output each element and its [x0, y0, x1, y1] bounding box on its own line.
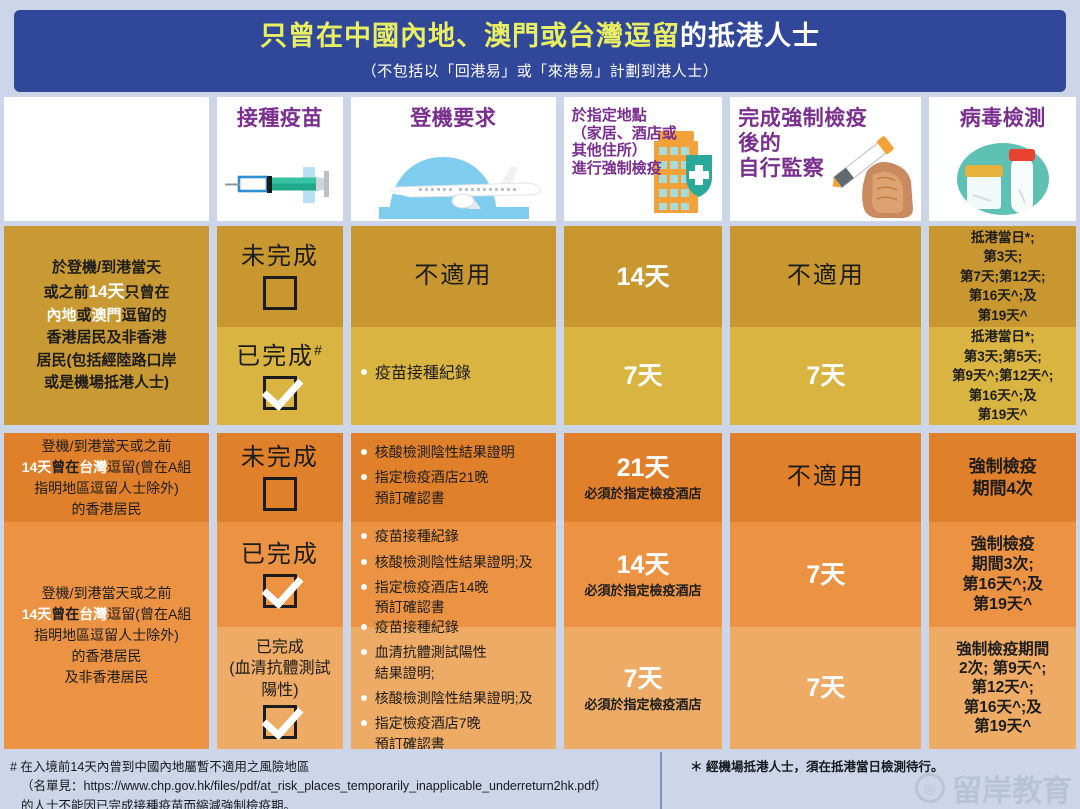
- weibo-icon: ◎: [915, 773, 945, 803]
- boarding-bullet: 指定檢疫酒店21晚 預訂確認書: [361, 467, 515, 508]
- boarding-column-orange: 核酸檢測陰性結果證明 指定檢疫酒店21晚 預訂確認書 疫苗接種紀錄 核酸檢測陰性…: [351, 433, 556, 749]
- cat-line-3: 指明地區逗留人士除外): [22, 625, 192, 646]
- selfmonitor-cell-7a: 7天: [730, 522, 921, 627]
- footer-line-3: 的人士不能因已完成接種疫苗而縮減強制檢疫期。: [10, 797, 660, 809]
- quarantine-note: 必須於指定檢疫酒店: [585, 694, 702, 713]
- footer-notes: # 在入境前14天內曾到中國內地屬暫不適用之風險地區 （名單見：https://…: [0, 752, 1080, 809]
- selfmonitor-line-1: 完成強制檢疫: [738, 107, 867, 132]
- quarantine-cell-14: 14天 必須於指定檢疫酒店: [564, 522, 722, 627]
- selfmonitor-value: 7天: [806, 673, 845, 703]
- boarding-cell-row3: 疫苗接種紀錄 血清抗體測試陽性 結果證明; 核酸檢測陰性結果證明;及 指定檢疫酒…: [351, 627, 556, 749]
- testing-column-gold: 抵港當日*; 第3天; 第7天;第12天; 第16天^;及 第19天^ 抵港當日…: [929, 226, 1076, 425]
- boarding-bullet: 核酸檢測陰性結果證明;及: [361, 688, 533, 708]
- checkbox-checked: [263, 376, 297, 410]
- vaccination-status-label: 已完成#: [236, 342, 324, 372]
- header-label-selfmonitor: 完成強制檢疫 後的 自行監察: [738, 107, 867, 181]
- page-title: 只曾在中國內地、澳門或台灣逗留的抵港人士: [260, 21, 820, 52]
- testing-line: 強制檢疫: [969, 456, 1037, 477]
- checkbox-unchecked: [263, 477, 297, 511]
- testing-line: 抵港當日*;: [960, 228, 1046, 248]
- testing-schedule: 強制檢疫 期間3次; 第16天^;及 第19天^: [962, 535, 1042, 615]
- vaccination-cell-complete: 已完成#: [217, 327, 343, 425]
- testing-line: 第19天^: [956, 717, 1049, 736]
- boarding-bullet: 核酸檢測陰性結果證明: [361, 442, 515, 462]
- checkbox-checked: [263, 705, 297, 739]
- testing-schedule: 強制檢疫 期間4次: [969, 456, 1037, 499]
- quarantine-cell-7: 7天: [564, 327, 722, 425]
- header-label-vaccination: 接種疫苗: [237, 107, 323, 132]
- boarding-cell-row1: 核酸檢測陰性結果證明 指定檢疫酒店21晚 預訂確認書: [351, 433, 556, 522]
- checkbox-checked: [263, 574, 297, 608]
- testing-line: 第9天^;第12天^;: [952, 366, 1053, 386]
- testing-line: 第12天^;: [956, 678, 1049, 697]
- boarding-value: 不適用: [414, 262, 492, 291]
- selfmonitor-value: 7天: [806, 361, 845, 391]
- testing-line: 第19天^: [962, 595, 1042, 615]
- cat-line-5: 居民(包括經陸路口岸: [37, 350, 177, 373]
- testing-line: 2次; 第9天^;: [956, 659, 1049, 678]
- boarding-bullet: 核酸檢測陰性結果證明;及: [361, 552, 533, 572]
- cat-line-1: 登機/到港當天或之前: [22, 436, 192, 457]
- cat-line-1: 於登機/到港當天: [37, 257, 177, 280]
- boarding-bullet: 疫苗接種紀錄: [361, 617, 533, 637]
- vaccination-column-orange: 未完成 已完成 已完成 (血清抗體測試 陽性): [217, 433, 343, 749]
- quarantine-value: 7天: [624, 361, 663, 391]
- footer-note-hash: # 在入境前14天內曾到中國內地屬暫不適用之風險地區 （名單見：https://…: [0, 752, 660, 809]
- cat-line-2: 14天曾在台灣逗留(曾在A組: [22, 604, 192, 625]
- testing-cell-row1: 強制檢疫 期間4次: [929, 433, 1076, 522]
- selfmonitor-cell-7b: 7天: [730, 627, 921, 749]
- cat-line-3: 內地或澳門逗留的: [37, 305, 177, 328]
- group-divider: [0, 425, 1080, 433]
- boarding-bullet-list: 疫苗接種紀錄: [361, 362, 471, 390]
- boarding-cell-records: 疫苗接種紀錄: [351, 327, 556, 425]
- title-highlight: 只曾在中國內地、澳門或台灣逗留: [260, 21, 680, 51]
- quarantine-line-4: 進行強制檢疫: [572, 160, 677, 178]
- header-cell-empty: [4, 97, 209, 221]
- checkbox-unchecked: [263, 276, 297, 310]
- watermark: ◎ 留岸教育: [915, 766, 1072, 809]
- cat-line-5: 及非香港居民: [22, 667, 192, 688]
- vaccination-label-line-3: 陽性): [229, 680, 330, 702]
- testing-line: 期間3次;: [962, 555, 1042, 575]
- category-column-taiwan: 登機/到港當天或之前 14天曾在台灣逗留(曾在A組 指明地區逗留人士除外) 的香…: [4, 433, 209, 749]
- selfmonitor-value: 不適用: [787, 262, 865, 291]
- testing-cell-row2: 強制檢疫 期間3次; 第16天^;及 第19天^: [929, 522, 1076, 627]
- quarantine-column-orange: 21天 必須於指定檢疫酒店 14天 必須於指定檢疫酒店 7天 必須於指定檢疫酒店: [564, 433, 722, 749]
- boarding-bullet: 血清抗體測試陽性 結果證明;: [361, 642, 533, 683]
- vaccination-status-label: 已完成 (血清抗體測試 陽性): [229, 637, 330, 702]
- quarantine-line-3: 其他住所）: [572, 142, 677, 160]
- boarding-bullet-list: 核酸檢測陰性結果證明 指定檢疫酒店21晚 預訂確認書: [361, 442, 515, 513]
- quarantine-note: 必須於指定檢疫酒店: [585, 483, 702, 502]
- testing-schedule: 強制檢疫期間 2次; 第9天^; 第12天^; 第16天^;及 第19天^: [956, 640, 1049, 737]
- cat-line-3: 指明地區逗留人士除外): [22, 478, 192, 499]
- header-cell-boarding: 登機要求: [351, 97, 556, 221]
- testing-line: 第16天^;及: [960, 286, 1046, 306]
- quarantine-value: 14天: [617, 550, 670, 580]
- header-cell-vaccination: 接種疫苗: [217, 97, 343, 221]
- infographic-page: 只曾在中國內地、澳門或台灣逗留的抵港人士 （不包括以「回港易」或「來港易」計劃到…: [0, 0, 1080, 809]
- specimen-tubes-icon: [945, 133, 1061, 221]
- header-cell-testing: 病毒檢測: [929, 97, 1076, 221]
- selfmonitor-value: 7天: [806, 560, 845, 590]
- testing-line: 第3天;第5天;: [952, 347, 1053, 367]
- testing-line: 第16天^;及: [962, 575, 1042, 595]
- testing-line: 第19天^: [960, 306, 1046, 326]
- vaccination-cell-incomplete: 未完成: [217, 226, 343, 327]
- category-cell-mainland-macau: 於登機/到港當天 或之前14天只曾在 內地或澳門逗留的 香港居民及非香港 居民(…: [4, 226, 209, 425]
- footer-line-2: （名單見：https://www.chp.gov.hk/files/pdf/at…: [10, 777, 660, 796]
- vaccination-cell-complete-serology: 已完成 (血清抗體測試 陽性): [217, 627, 343, 749]
- testing-schedule: 抵港當日*; 第3天;第5天; 第9天^;第12天^; 第16天^;及 第19天…: [952, 327, 1053, 425]
- boarding-bullet: 指定檢疫酒店14晚 預訂確認書: [361, 577, 533, 618]
- boarding-column-gold: 不適用 疫苗接種紀錄: [351, 226, 556, 425]
- title-rest: 的抵港人士: [680, 21, 820, 51]
- boarding-cell-row2: 疫苗接種紀錄 核酸檢測陰性結果證明;及 指定檢疫酒店14晚 預訂確認書: [351, 522, 556, 627]
- boarding-bullet: 指定檢疫酒店7晚 預訂確認書: [361, 713, 533, 749]
- requirements-table: 接種疫苗 登機要求: [0, 97, 1080, 749]
- quarantine-cell-7: 7天 必須於指定檢疫酒店: [564, 627, 722, 749]
- quarantine-value: 14天: [617, 262, 670, 292]
- testing-line: 第16天^;及: [956, 698, 1049, 717]
- quarantine-cell-21: 21天 必須於指定檢疫酒店: [564, 433, 722, 522]
- selfmonitor-column-orange: 不適用 7天 7天: [730, 433, 921, 749]
- selfmonitor-line-3: 自行監察: [738, 157, 867, 182]
- vaccination-status-label: 未完成: [241, 243, 319, 272]
- header-label-testing: 病毒檢測: [960, 107, 1046, 132]
- testing-line: 強制檢疫: [962, 535, 1042, 555]
- vaccination-cell-complete: 已完成: [217, 522, 343, 627]
- testing-line: 抵港當日*;: [952, 327, 1053, 347]
- quarantine-cell-14: 14天: [564, 226, 722, 327]
- testing-line: 第16天^;及: [952, 386, 1053, 406]
- boarding-cell-na: 不適用: [351, 226, 556, 327]
- header-cell-quarantine: 於指定地點 （家居、酒店或 其他住所） 進行強制檢疫: [564, 97, 722, 221]
- title-banner: 只曾在中國內地、澳門或台灣逗留的抵港人士 （不包括以「回港易」或「來港易」計劃到…: [14, 10, 1066, 92]
- boarding-bullet-list: 疫苗接種紀錄 血清抗體測試陽性 結果證明; 核酸檢測陰性結果證明;及 指定檢疫酒…: [361, 617, 533, 749]
- boarding-bullet: 疫苗接種紀錄: [361, 362, 471, 385]
- watermark-text: 留岸教育: [952, 766, 1072, 809]
- cat-line-1: 登機/到港當天或之前: [22, 583, 192, 604]
- vaccination-status-label: 已完成: [241, 541, 319, 570]
- header-cell-selfmonitor: 完成強制檢疫 後的 自行監察: [730, 97, 921, 221]
- testing-line: 強制檢疫期間: [956, 640, 1049, 659]
- testing-line: 期間4次: [969, 478, 1037, 499]
- footer-line-1: # 在入境前14天內曾到中國內地屬暫不適用之風險地區: [10, 758, 660, 777]
- cat-line-2: 14天曾在台灣逗留(曾在A組: [22, 457, 192, 478]
- orange-group-row: 登機/到港當天或之前 14天曾在台灣逗留(曾在A組 指明地區逗留人士除外) 的香…: [0, 433, 1080, 749]
- vaccination-column-gold: 未完成 已完成#: [217, 226, 343, 425]
- selfmonitor-value: 不適用: [787, 463, 865, 492]
- selfmonitor-column-gold: 不適用 7天: [730, 226, 921, 425]
- testing-column-orange: 強制檢疫 期間4次 強制檢疫 期間3次; 第16天^;及 第19天^ 強制檢疫期…: [929, 433, 1076, 749]
- testing-schedule: 抵港當日*; 第3天; 第7天;第12天; 第16天^;及 第19天^: [960, 228, 1046, 326]
- boarding-bullet: 疫苗接種紀錄: [361, 526, 533, 546]
- selfmonitor-cell-7: 7天: [730, 327, 921, 425]
- selfmonitor-cell-na: 不適用: [730, 226, 921, 327]
- category-cell-taiwan-hkresident: 登機/到港當天或之前 14天曾在台灣逗留(曾在A組 指明地區逗留人士除外) 的香…: [4, 433, 209, 522]
- syringe-icon: [225, 155, 337, 212]
- airplane-icon: [351, 133, 556, 221]
- cat-line-4: 香港居民及非香港: [37, 327, 177, 350]
- vaccination-label-line-2: (血清抗體測試: [229, 658, 330, 680]
- footer-note-asterisk: ＊ 經機場抵港人士，須在抵港當日檢測待行。 ◎ 留岸教育: [660, 752, 1080, 809]
- quarantine-value: 7天: [624, 664, 663, 694]
- cat-line-4: 的香港居民: [22, 499, 192, 520]
- vaccination-status-label: 未完成: [241, 444, 319, 473]
- vaccination-cell-incomplete: 未完成: [217, 433, 343, 522]
- header-label-quarantine: 於指定地點 （家居、酒店或 其他住所） 進行強制檢疫: [572, 107, 677, 178]
- vaccination-label-line-1: 已完成: [229, 637, 330, 659]
- quarantine-value: 21天: [617, 453, 670, 483]
- category-cell-taiwan-all: 登機/到港當天或之前 14天曾在台灣逗留(曾在A組 指明地區逗留人士除外) 的香…: [4, 522, 209, 749]
- testing-cell-row3: 強制檢疫期間 2次; 第9天^; 第12天^; 第16天^;及 第19天^: [929, 627, 1076, 749]
- testing-cell-row2: 抵港當日*; 第3天;第5天; 第9天^;第12天^; 第16天^;及 第19天…: [929, 327, 1076, 425]
- testing-cell-row1: 抵港當日*; 第3天; 第7天;第12天; 第16天^;及 第19天^: [929, 226, 1076, 327]
- cat-line-2: 或之前14天只曾在: [37, 279, 177, 305]
- quarantine-column-gold: 14天 7天: [564, 226, 722, 425]
- page-subtitle: （不包括以「回港易」或「來港易」計劃到港人士）: [362, 60, 719, 81]
- quarantine-line-2: （家居、酒店或: [572, 125, 677, 143]
- cat-line-4: 的香港居民: [22, 646, 192, 667]
- testing-line: 第19天^: [952, 405, 1053, 425]
- table-header-row: 接種疫苗 登機要求: [0, 97, 1080, 226]
- selfmonitor-line-2: 後的: [738, 132, 867, 157]
- boarding-bullet-list: 疫苗接種紀錄 核酸檢測陰性結果證明;及 指定檢疫酒店14晚 預訂確認書: [361, 526, 533, 622]
- testing-line: 第7天;第12天;: [960, 267, 1046, 287]
- gold-group-row-1: 於登機/到港當天 或之前14天只曾在 內地或澳門逗留的 香港居民及非香港 居民(…: [0, 226, 1080, 425]
- quarantine-line-1: 於指定地點: [572, 107, 677, 125]
- testing-line: 第3天;: [960, 247, 1046, 267]
- header-label-boarding: 登機要求: [410, 107, 496, 132]
- quarantine-note: 必須於指定檢疫酒店: [585, 580, 702, 599]
- cat-line-6: 或是機場抵港人士): [37, 372, 177, 395]
- selfmonitor-cell-na: 不適用: [730, 433, 921, 522]
